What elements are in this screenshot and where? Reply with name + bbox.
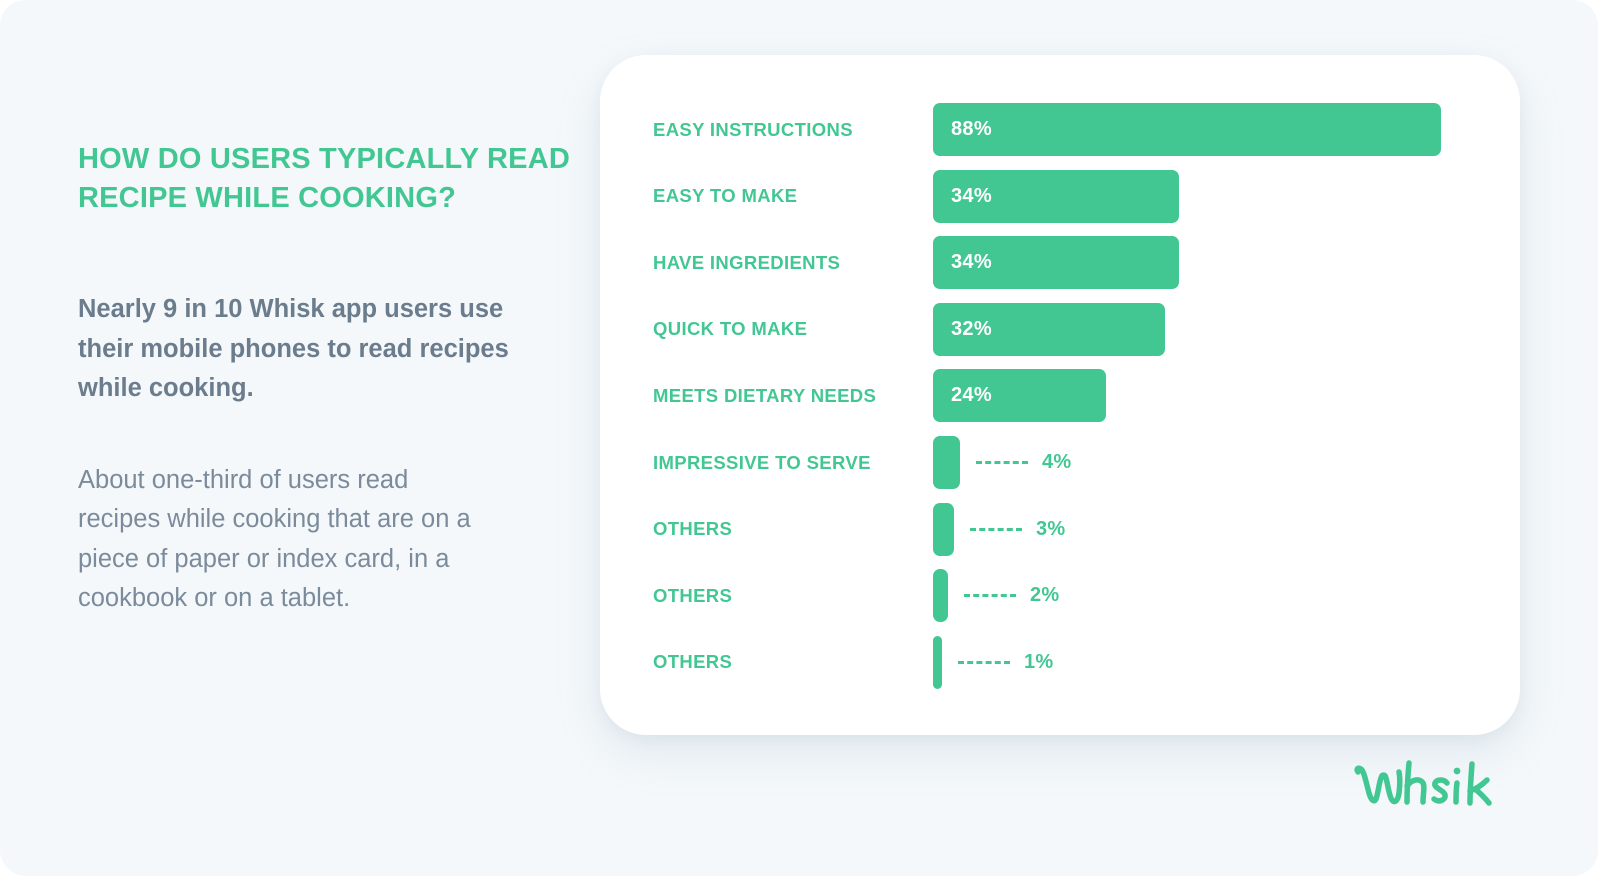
bar: 34%	[933, 236, 1179, 289]
bar-category-label: EASY INSTRUCTIONS	[653, 119, 933, 141]
bar-track: 2%	[933, 569, 1520, 622]
bar-value: 24%	[951, 384, 992, 407]
infographic-stage: HOW DO USERS TYPICALLY READ RECIPE WHILE…	[0, 0, 1598, 876]
chart-row: OTHERS3%	[653, 503, 1520, 556]
bar-track: 1%	[933, 636, 1520, 689]
bar-value: 88%	[951, 118, 992, 141]
bar-track: 24%	[933, 369, 1520, 422]
chart-row: OTHERS2%	[653, 569, 1520, 622]
lede-paragraph: Nearly 9 in 10 Whisk app users use their…	[78, 290, 528, 409]
chart-row: EASY INSTRUCTIONS88%	[653, 103, 1520, 156]
page-title: HOW DO USERS TYPICALLY READ RECIPE WHILE…	[78, 140, 578, 217]
bar	[933, 436, 960, 489]
bar-track: 88%	[933, 103, 1520, 156]
bar-track: 34%	[933, 236, 1520, 289]
bar: 34%	[933, 170, 1179, 223]
bar-category-label: MEETS DIETARY NEEDS	[653, 385, 933, 407]
bar	[933, 569, 948, 622]
bar	[933, 636, 942, 689]
bar-track: 34%	[933, 170, 1520, 223]
bar-value: 3%	[1036, 518, 1066, 541]
bar-value: 2%	[1030, 584, 1060, 607]
bar-category-label: IMPRESSIVE TO SERVE	[653, 452, 933, 474]
body-paragraph: About one-third of users read recipes wh…	[78, 461, 488, 619]
bar-category-label: OTHERS	[653, 518, 933, 540]
bar: 88%	[933, 103, 1441, 156]
chart-row: EASY TO MAKE34%	[653, 170, 1520, 223]
bar-value: 34%	[951, 185, 992, 208]
bar-track: 32%	[933, 303, 1520, 356]
bar-category-label: HAVE INGREDIENTS	[653, 252, 933, 274]
left-text-column: HOW DO USERS TYPICALLY READ RECIPE WHILE…	[78, 140, 578, 619]
bar-category-label: QUICK TO MAKE	[653, 318, 933, 340]
bar-leader-line	[964, 594, 1016, 597]
chart-row: IMPRESSIVE TO SERVE4%	[653, 436, 1520, 489]
bar-chart: EASY INSTRUCTIONS88%EASY TO MAKE34%HAVE …	[600, 55, 1520, 735]
bar-track: 3%	[933, 503, 1520, 556]
bar-value: 32%	[951, 318, 992, 341]
chart-row: HAVE INGREDIENTS34%	[653, 236, 1520, 289]
bar-value: 34%	[951, 251, 992, 274]
bar-value: 4%	[1042, 451, 1072, 474]
bar-leader-line	[976, 461, 1028, 464]
bar: 24%	[933, 369, 1106, 422]
bar-track: 4%	[933, 436, 1520, 489]
bar-leader-line	[958, 661, 1010, 664]
bar-value: 1%	[1024, 651, 1054, 674]
bar	[933, 503, 954, 556]
bar: 32%	[933, 303, 1165, 356]
chart-card: EASY INSTRUCTIONS88%EASY TO MAKE34%HAVE …	[600, 55, 1520, 735]
bar-leader-line	[970, 528, 1022, 531]
chart-row: OTHERS1%	[653, 636, 1520, 689]
bar-category-label: OTHERS	[653, 585, 933, 607]
bar-category-label: EASY TO MAKE	[653, 185, 933, 207]
chart-row: MEETS DIETARY NEEDS24%	[653, 369, 1520, 422]
whisk-wordmark-icon	[1352, 758, 1502, 814]
bar-category-label: OTHERS	[653, 651, 933, 673]
chart-row: QUICK TO MAKE32%	[653, 303, 1520, 356]
